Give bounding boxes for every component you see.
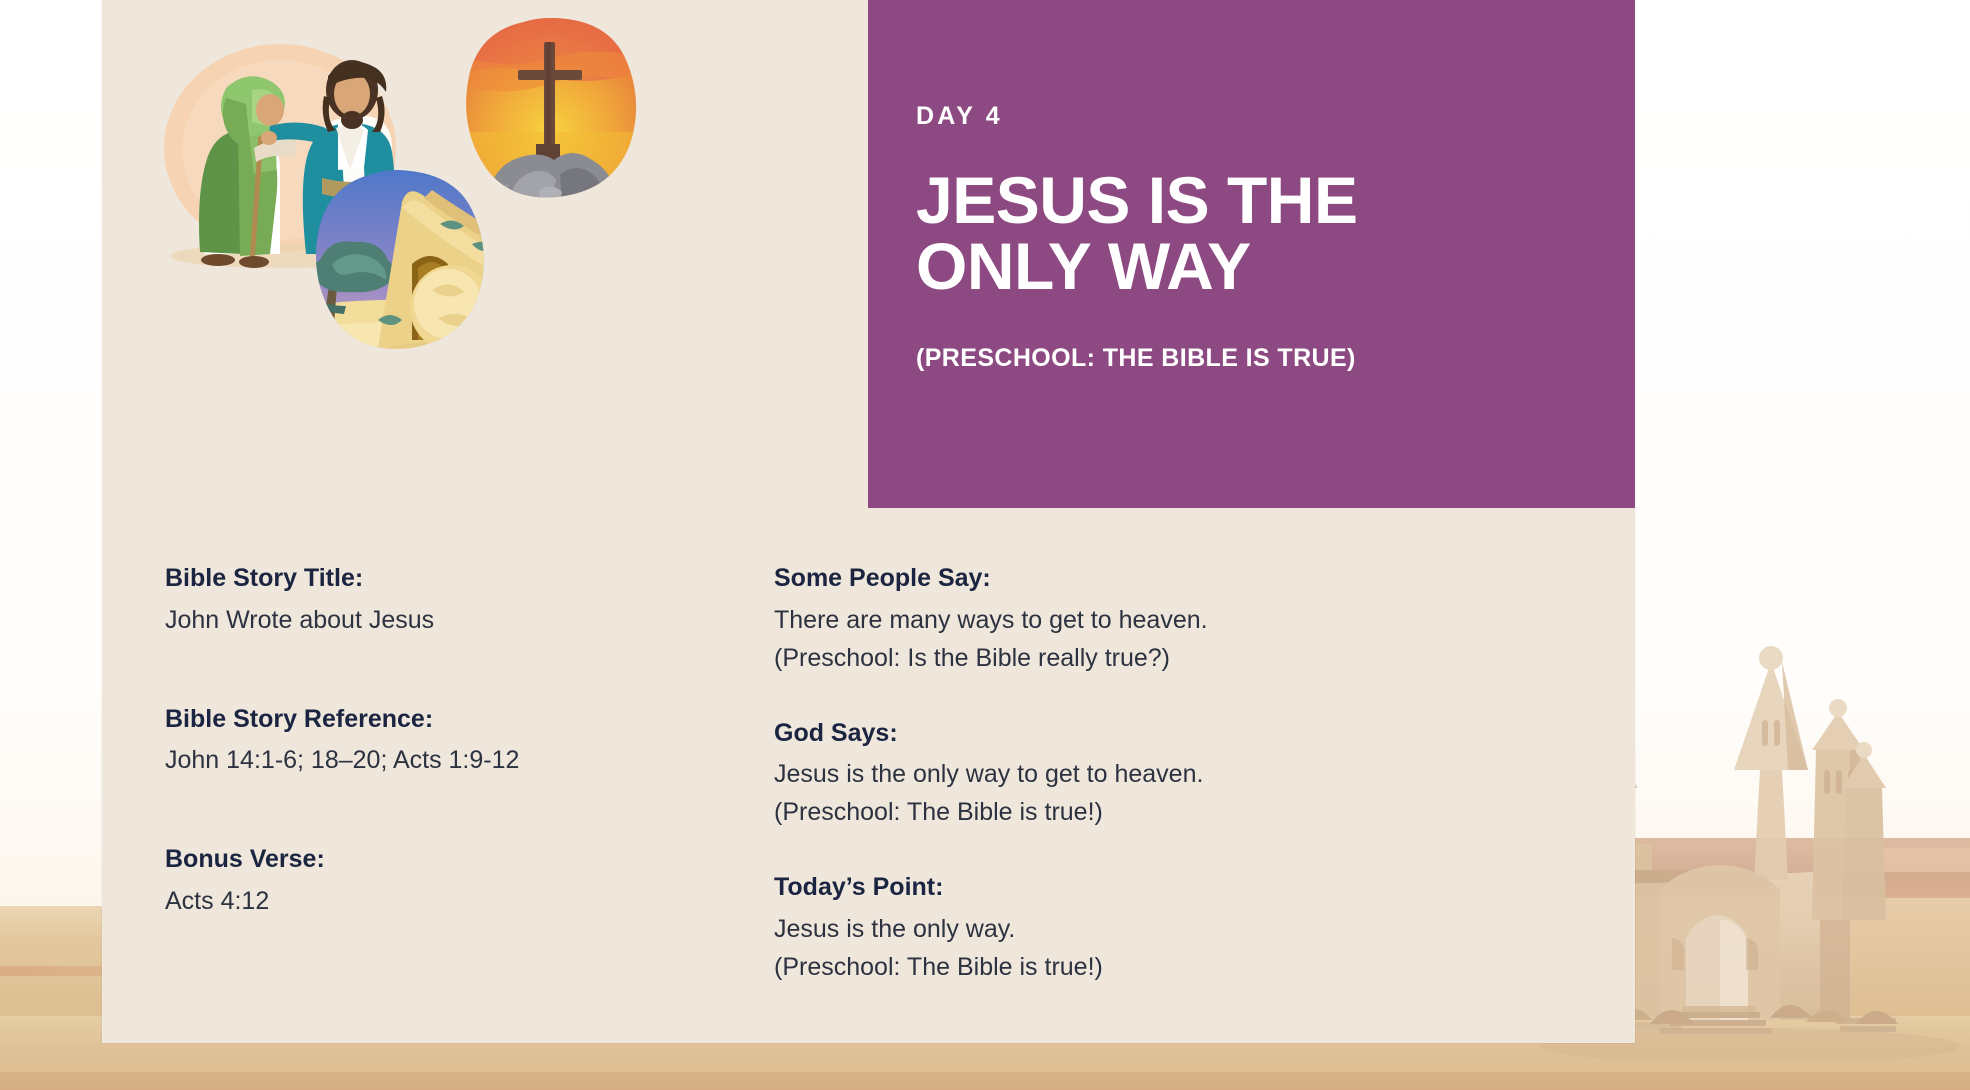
- field-label: Some People Say:: [774, 560, 1474, 598]
- empty-tomb-with-rolled-stone-illustration: [302, 168, 494, 360]
- page-title-line-1: JESUS IS THE: [916, 167, 1595, 233]
- field-value: John Wrote about Jesus: [165, 601, 805, 639]
- field-bible-story-reference: Bible Story Reference: John 14:1-6; 18–2…: [165, 701, 805, 780]
- field-value: Acts 4:12: [165, 882, 805, 920]
- field-bonus-verse: Bonus Verse: Acts 4:12: [165, 841, 805, 920]
- day-label: DAY 4: [916, 104, 1595, 129]
- background-wet-sand-line: [0, 1072, 1970, 1090]
- field-label: Bonus Verse:: [165, 841, 805, 879]
- field-label: Bible Story Title:: [165, 560, 805, 598]
- field-todays-point: Today’s Point: Jesus is the only way. (P…: [774, 869, 1474, 986]
- field-bible-story-title: Bible Story Title: John Wrote about Jesu…: [165, 560, 805, 639]
- field-some-people-say: Some People Say: There are many ways to …: [774, 560, 1474, 677]
- field-value-line-2: (Preschool: Is the Bible really true?): [774, 639, 1474, 677]
- field-value-line-1: There are many ways to get to heaven.: [774, 601, 1474, 639]
- page-title: JESUS IS THE ONLY WAY: [916, 167, 1595, 299]
- bible-story-column: Bible Story Title: John Wrote about Jesu…: [165, 560, 805, 920]
- slide-root: DAY 4 JESUS IS THE ONLY WAY (PRESCHOOL: …: [0, 0, 1970, 1090]
- field-label: God Says:: [774, 715, 1474, 753]
- page-subtitle: (PRESCHOOL: THE BIBLE IS TRUE): [916, 343, 1595, 373]
- page-title-line-2: ONLY WAY: [916, 233, 1595, 299]
- field-value-line-2: (Preschool: The Bible is true!): [774, 948, 1474, 986]
- title-banner: DAY 4 JESUS IS THE ONLY WAY (PRESCHOOL: …: [868, 0, 1635, 508]
- field-value-line-2: (Preschool: The Bible is true!): [774, 793, 1474, 831]
- teaching-points-column: Some People Say: There are many ways to …: [774, 560, 1474, 986]
- field-god-says: God Says: Jesus is the only way to get t…: [774, 715, 1474, 832]
- field-label: Bible Story Reference:: [165, 701, 805, 739]
- field-value-line-1: Jesus is the only way.: [774, 910, 1474, 948]
- illustration-group: [102, 0, 868, 508]
- field-value-line-1: Jesus is the only way to get to heaven.: [774, 755, 1474, 793]
- field-label: Today’s Point:: [774, 869, 1474, 907]
- field-value: John 14:1-6; 18–20; Acts 1:9-12: [165, 741, 805, 779]
- lesson-card: DAY 4 JESUS IS THE ONLY WAY (PRESCHOOL: …: [102, 0, 1635, 1043]
